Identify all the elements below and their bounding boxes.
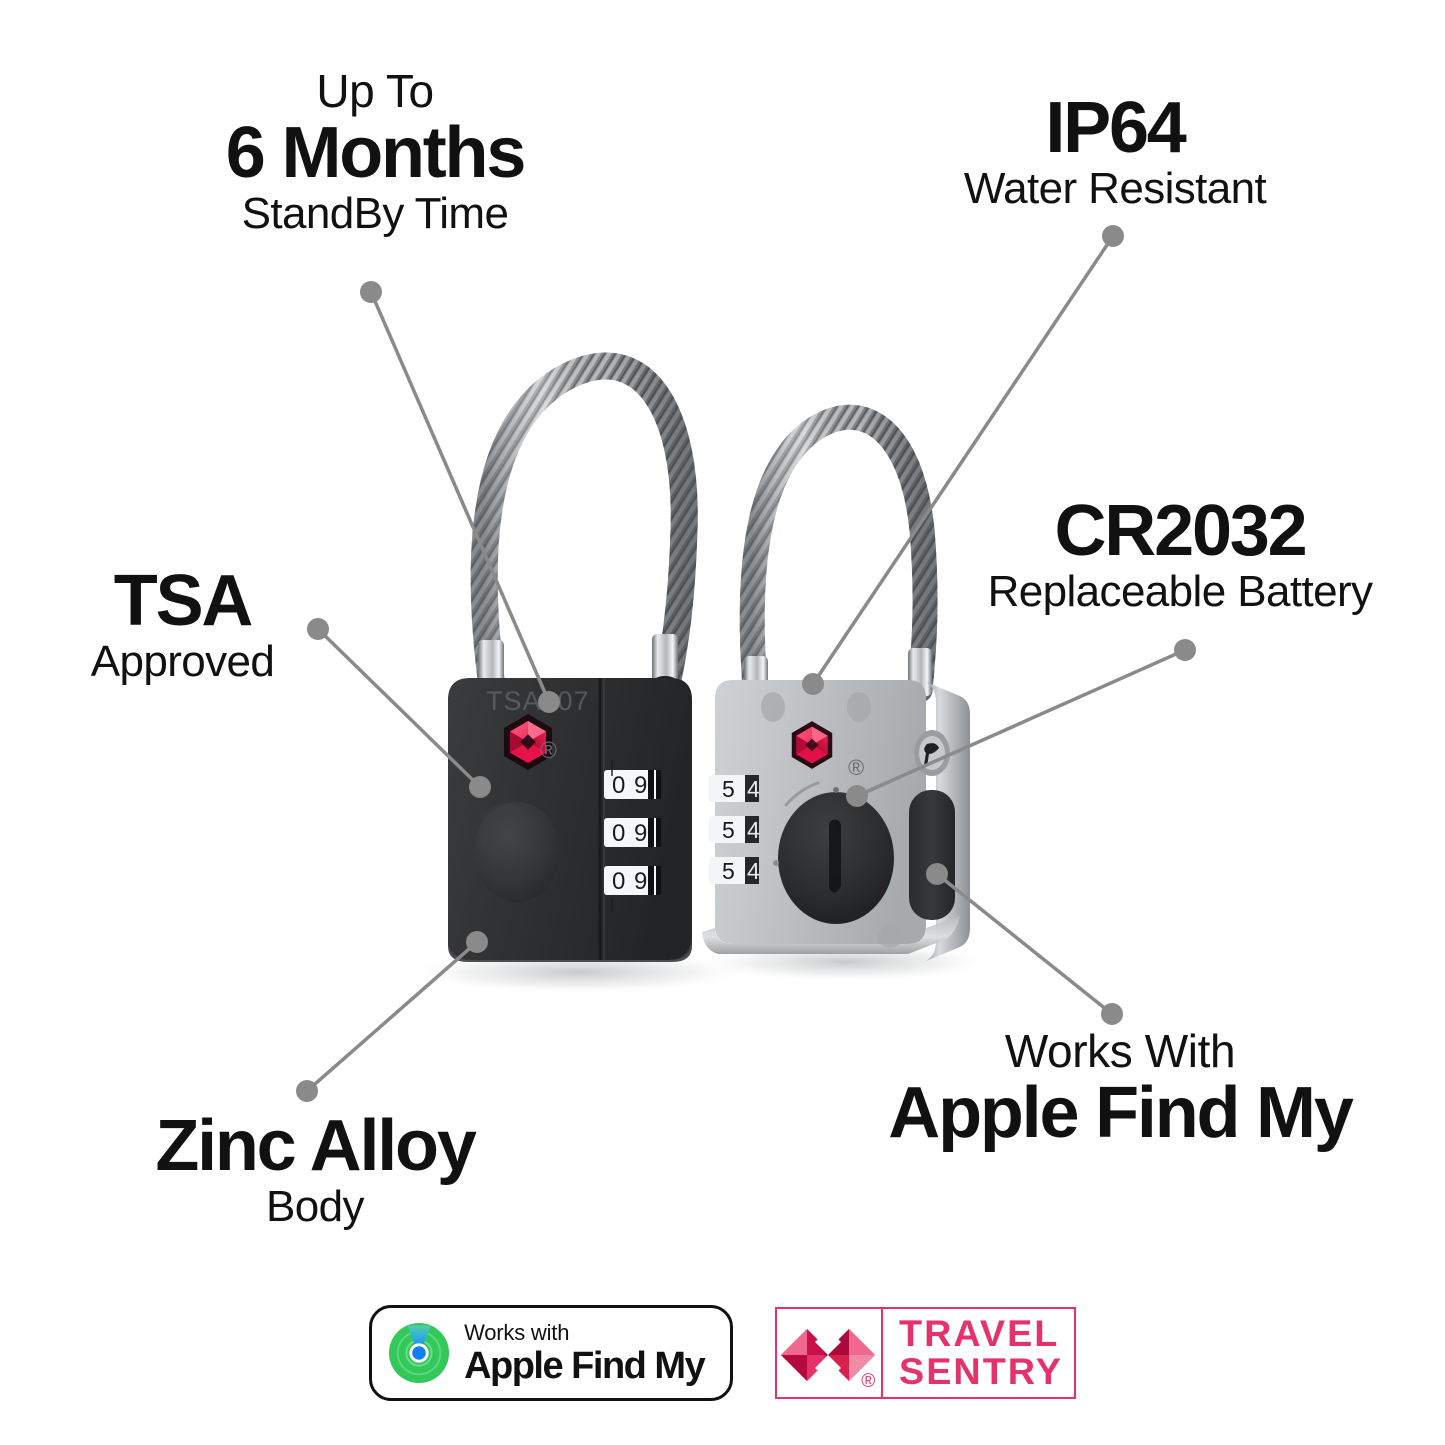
- ip64-sub-bottom: Water Resistant: [935, 167, 1295, 212]
- callout-tsa-approved: TSA Approved: [50, 563, 315, 685]
- leader-line-findmy: [937, 874, 1112, 1014]
- black-lock-dials: 0 9 0 9 0 9: [604, 760, 661, 912]
- tsa-headline: TSA: [50, 565, 315, 638]
- travel-sentry-line1: TRAVEL: [899, 1315, 1063, 1353]
- black-lock-shadow: [403, 950, 753, 994]
- leader-dot-standby-target: [538, 691, 560, 713]
- standby-headline: 6 Months: [175, 117, 575, 190]
- travel-sentry-badge[interactable]: ® TRAVEL SENTRY: [775, 1307, 1076, 1399]
- travel-sentry-wordmark: ® TRAVEL SENTRY: [883, 1309, 1074, 1397]
- svg-text:9: 9: [634, 820, 647, 847]
- zinc-headline: Zinc Alloy: [110, 1110, 520, 1183]
- zinc-sub-bottom: Body: [110, 1185, 520, 1230]
- find-my-badge-big-text: Apple Find My: [464, 1347, 704, 1385]
- black-dial-2: 0 9: [604, 818, 661, 847]
- black-lock-cable: [478, 366, 684, 696]
- silver-dial-2: 5 4: [709, 816, 760, 843]
- callout-replaceable-battery: CR2032 Replaceable Battery: [965, 493, 1395, 615]
- cable-ferrule-right: [908, 648, 932, 696]
- leader-line-tsa: [318, 629, 480, 787]
- findmy-sub-top: Works With: [840, 1028, 1400, 1075]
- svg-text:0: 0: [612, 772, 625, 799]
- leader-dot-battery-label: [1174, 639, 1196, 661]
- findmy-headline: Apple Find My: [840, 1077, 1400, 1150]
- ip64-headline: IP64: [935, 92, 1295, 165]
- silver-dark-panel: [909, 790, 955, 920]
- leader-line-ip64: [813, 236, 1113, 684]
- battery-sub-bottom: Replaceable Battery: [965, 570, 1395, 615]
- svg-text:5: 5: [722, 776, 735, 802]
- silver-dial-3: 5 4: [709, 857, 760, 884]
- svg-text:5: 5: [722, 858, 735, 884]
- callout-water-resistant: IP64 Water Resistant: [935, 90, 1295, 212]
- black-lock-body: [448, 678, 692, 960]
- callout-works-with-apple-find-my: Works With Apple Find My: [840, 1028, 1400, 1152]
- standby-sub-top: Up To: [175, 68, 575, 115]
- silver-lock-bottom-edge: [702, 916, 960, 954]
- svg-text:4: 4: [747, 817, 760, 843]
- travel-sentry-registered-mark: ®: [861, 1371, 875, 1393]
- svg-text:4: 4: [747, 776, 760, 802]
- black-cable-ferrule-left: [478, 640, 504, 696]
- silver-lock-cable: [744, 417, 932, 708]
- black-lock-button: [474, 802, 560, 902]
- svg-text:9: 9: [634, 772, 647, 799]
- silver-lock-body: [715, 680, 926, 944]
- black-lock-group: TSA007 ® 0: [448, 366, 692, 962]
- black-tsa-logo-icon: [504, 714, 552, 770]
- leader-dot-ip64-target: [802, 673, 824, 695]
- leader-dot-battery-target: [846, 785, 868, 807]
- find-my-badge-small-text: Works with: [464, 1322, 704, 1344]
- svg-text:9: 9: [634, 868, 647, 895]
- certification-badges: Works with Apple Find My: [0, 1292, 1445, 1414]
- tsa-sub-bottom: Approved: [50, 640, 315, 685]
- leader-dot-zinc-label: [296, 1080, 318, 1102]
- black-lock-embossed-text: TSA007: [486, 686, 590, 716]
- travel-sentry-line2: SENTRY: [899, 1353, 1063, 1391]
- leader-line-battery: [857, 650, 1185, 796]
- cable-ferrule-left: [744, 656, 768, 708]
- leader-dot-findmy-target: [926, 863, 948, 885]
- black-lock-bottom-edge: [448, 930, 692, 962]
- silver-tsa-logo-icon: [792, 721, 832, 769]
- silver-keyhole-icon: [914, 730, 950, 776]
- leader-dot-standby-label: [360, 281, 382, 303]
- svg-text:0: 0: [612, 820, 625, 847]
- silver-lock-shadow: [695, 942, 995, 982]
- silver-lock-group: ® 5 4 5 4: [702, 417, 970, 961]
- battery-headline: CR2032: [965, 495, 1395, 568]
- callout-zinc-alloy-body: Zinc Alloy Body: [110, 1108, 520, 1230]
- silver-battery-cover: [773, 783, 894, 924]
- standby-sub-bottom: StandBy Time: [175, 192, 575, 237]
- svg-text:0: 0: [612, 868, 625, 895]
- works-with-apple-find-my-badge[interactable]: Works with Apple Find My: [369, 1305, 733, 1401]
- silver-lock-dials: 5 4 5 4 5 4: [709, 775, 760, 884]
- leader-dot-zinc-target: [466, 931, 488, 953]
- black-cable-ferrule-right: [652, 634, 678, 686]
- leader-dot-ip64-label: [1102, 225, 1124, 247]
- svg-text:4: 4: [747, 858, 760, 884]
- black-dial-1: 0 9: [604, 770, 661, 799]
- silver-dial-1: 5 4: [709, 775, 760, 802]
- leader-line-standby: [371, 292, 549, 702]
- silver-lock-side: [926, 682, 970, 961]
- leader-line-zinc: [307, 942, 477, 1091]
- leader-dot-findmy-label: [1101, 1003, 1123, 1025]
- svg-text:5: 5: [722, 817, 735, 843]
- find-my-radar-icon: [388, 1322, 450, 1384]
- silver-tsa-registered-mark: ®: [848, 755, 864, 780]
- callout-standby-time: Up To 6 Months StandBy Time: [175, 68, 575, 237]
- infographic-canvas: ® 5 4 5 4: [0, 0, 1445, 1445]
- silver-screw-top-left: [761, 692, 785, 722]
- black-tsa-registered-mark: ®: [540, 737, 557, 763]
- leader-dot-tsa-target: [469, 776, 491, 798]
- silver-screw-top-right: [847, 692, 871, 722]
- silver-screw-bottom: [877, 926, 903, 948]
- black-dial-3: 0 9: [604, 866, 661, 895]
